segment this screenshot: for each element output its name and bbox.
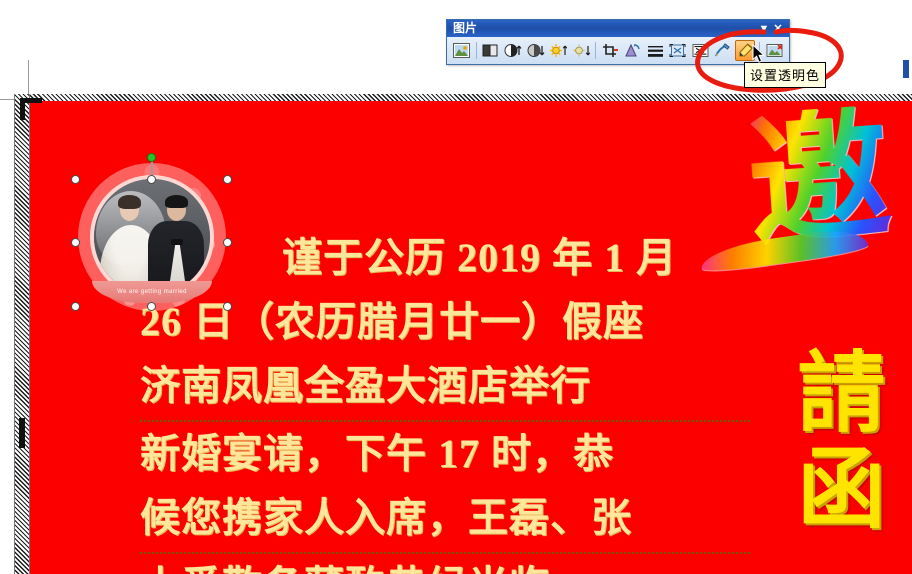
text-wrapping-icon[interactable]	[690, 40, 711, 61]
selection-handle-s[interactable]	[147, 302, 156, 311]
more-brightness-icon[interactable]	[548, 40, 569, 61]
margin-band-top	[14, 94, 912, 101]
toolbar-button-row	[447, 37, 789, 64]
selection-handle-n[interactable]	[147, 175, 156, 184]
less-contrast-icon[interactable]	[525, 40, 546, 61]
line-style-icon[interactable]	[645, 40, 666, 61]
invitation-line-1: 谨于公历 2019 年 1 月	[140, 226, 750, 290]
document-page[interactable]: We are getting married 谨于公历 2019 年 1 月 2…	[0, 60, 912, 574]
selection-handle-nw[interactable]	[71, 175, 80, 184]
toolbar-separator	[476, 42, 477, 59]
reset-picture-icon[interactable]	[764, 40, 785, 61]
picture-toolbar[interactable]: 图片 ▼ ✕	[446, 19, 790, 65]
close-icon[interactable]: ✕	[771, 21, 785, 36]
decorative-chars-qinghan: 請函	[787, 346, 882, 538]
invitation-line-5: 候您携家人入席，王磊、张	[140, 486, 750, 554]
compress-pictures-icon[interactable]	[667, 40, 688, 61]
app-root: We are getting married 谨于公历 2019 年 1 月 2…	[0, 0, 912, 574]
less-brightness-icon[interactable]	[570, 40, 591, 61]
rotation-handle[interactable]	[147, 153, 156, 162]
invitation-line-6: 小爱敬备薄酌恭候光临。	[140, 554, 750, 574]
selection-handle-ne[interactable]	[223, 175, 232, 184]
invitation-card[interactable]: We are getting married 谨于公历 2019 年 1 月 2…	[30, 101, 912, 574]
crop-icon[interactable]	[600, 40, 621, 61]
chevron-down-icon[interactable]: ▼	[757, 21, 771, 36]
selection-handle-e[interactable]	[223, 238, 232, 247]
toolbar-separator	[595, 42, 596, 59]
text-caret	[19, 418, 25, 448]
invitation-line-2: 26 日（农历腊月廿一）假座	[140, 290, 750, 354]
cursor-bar-artifact	[903, 60, 909, 78]
selection-handle-sw[interactable]	[71, 302, 80, 311]
toolbar-title: 图片	[451, 20, 757, 37]
more-contrast-icon[interactable]	[503, 40, 524, 61]
toolbar-titlebar[interactable]: 图片 ▼ ✕	[447, 20, 789, 37]
selection-handle-se[interactable]	[223, 302, 232, 311]
mouse-cursor	[752, 44, 766, 69]
color-icon[interactable]	[480, 40, 501, 61]
invitation-line-3: 济南凤凰全盈大酒店举行	[140, 354, 750, 422]
insert-picture-icon[interactable]	[451, 40, 472, 61]
margin-band-left	[14, 94, 30, 574]
format-picture-icon[interactable]	[712, 40, 733, 61]
rotate-left-icon[interactable]	[622, 40, 643, 61]
groom-hair-shape	[165, 195, 188, 208]
crop-mark-top-left	[20, 98, 42, 120]
invitation-text-block[interactable]: 谨于公历 2019 年 1 月 26 日（农历腊月廿一）假座 济南凤凰全盈大酒店…	[140, 226, 750, 574]
invitation-line-4: 新婚宴请，下午 17 时，恭	[140, 422, 750, 486]
selection-handle-w[interactable]	[71, 238, 80, 247]
bride-hair-shape	[118, 195, 141, 209]
